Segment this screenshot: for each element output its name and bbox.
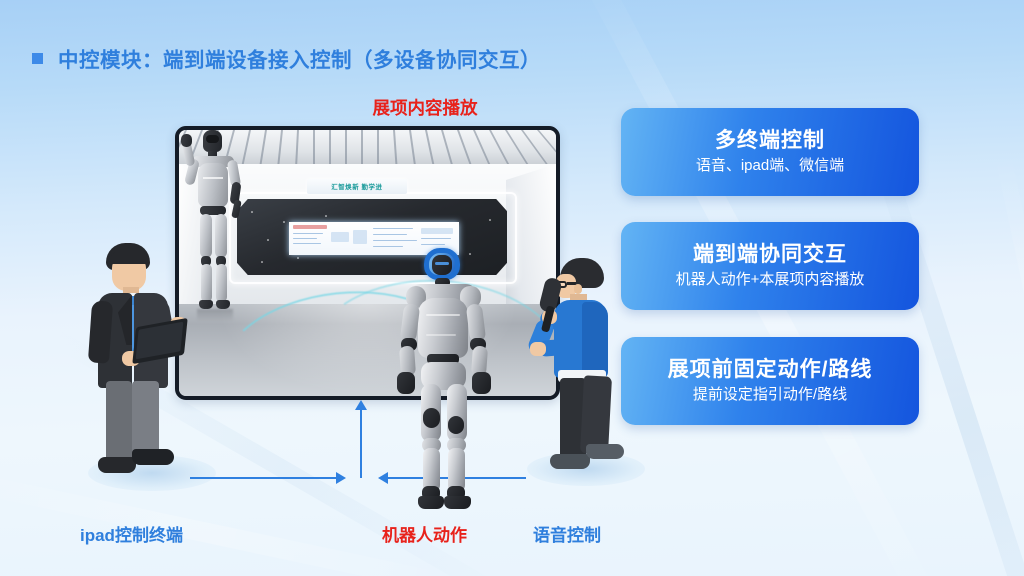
feature-card-title: 多终端控制: [715, 129, 825, 153]
actor-label-robot: 机器人动作: [382, 521, 467, 546]
actor-label-ipad: ipad控制终端: [80, 521, 183, 546]
square-bullet-icon: [32, 53, 43, 64]
exhibition-hall-photo: 汇智焕新 勤学进: [175, 126, 560, 400]
feature-card-fixed-route[interactable]: 展项前固定动作/路线 提前设定指引动作/路线: [621, 337, 919, 425]
screen-caption: 展项内容播放: [373, 95, 478, 120]
humanoid-robot-illustration: [396, 248, 492, 516]
wall-slogan-plate: 汇智焕新 勤学进: [307, 179, 407, 194]
wall-slogan-text: 汇智焕新 勤学进: [331, 182, 382, 191]
arrow-center-to-screen-line: [360, 410, 362, 478]
actor-label-voice: 语音控制: [533, 521, 601, 546]
person-with-tablet-illustration: [78, 243, 208, 488]
feature-card-end-to-end[interactable]: 端到端协同交互 机器人动作+本展项内容播放: [621, 222, 919, 310]
feature-card-multi-terminal[interactable]: 多终端控制 语音、ipad端、微信端: [621, 108, 919, 196]
background-streak: [994, 150, 1024, 576]
feature-card-title: 端到端协同交互: [693, 243, 847, 267]
feature-card-subtitle: 机器人动作+本展项内容播放: [676, 272, 865, 289]
person-with-microphone-illustration: [520, 258, 640, 488]
arrow-center-to-screen-head: [355, 400, 367, 410]
feature-card-title: 展项前固定动作/路线: [668, 358, 873, 382]
arrow-left-to-center-line: [190, 477, 337, 479]
arrow-right-to-center-head: [378, 472, 388, 484]
slide-canvas: 中控模块：端到端设备接入控制（多设备协同交互） 展项内容播放: [0, 0, 1024, 576]
arrow-left-to-center-head: [336, 472, 346, 484]
feature-card-subtitle: 提前设定指引动作/路线: [693, 387, 847, 404]
page-title: 中控模块：端到端设备接入控制（多设备协同交互）: [32, 43, 541, 73]
feature-card-subtitle: 语音、ipad端、微信端: [696, 158, 844, 175]
page-title-text: 中控模块：端到端设备接入控制（多设备协同交互）: [58, 43, 541, 73]
